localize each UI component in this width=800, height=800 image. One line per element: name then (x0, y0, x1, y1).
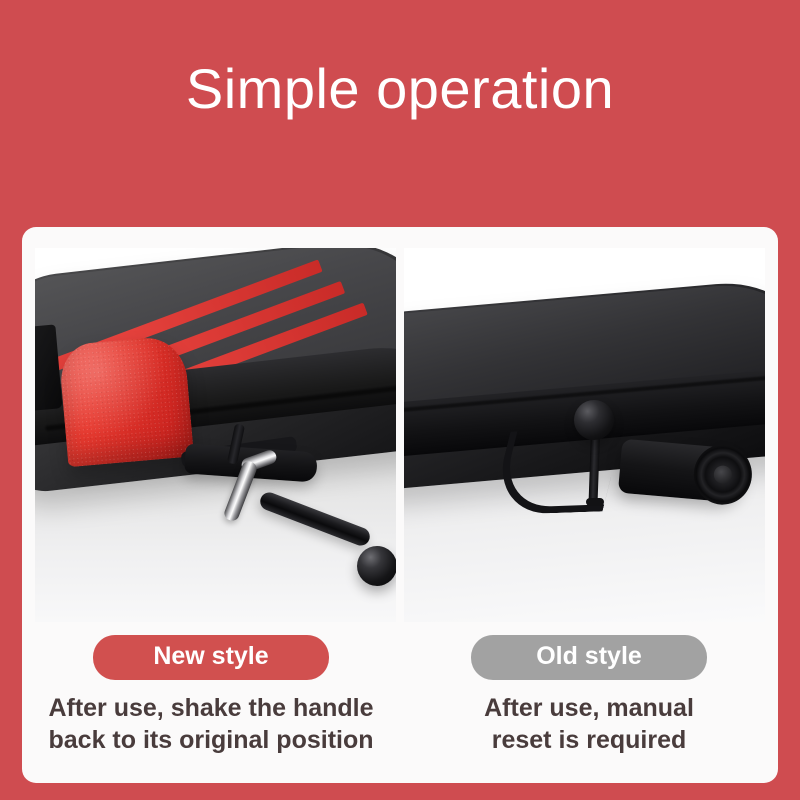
handle-ball-knob (357, 546, 396, 586)
manual-pin-foot (586, 498, 604, 506)
column-old-style: Old style After use, manual reset is req… (400, 635, 778, 756)
badge-old-style: Old style (471, 635, 707, 680)
manual-pin-knob (574, 400, 614, 440)
caption-old-style: After use, manual reset is required (400, 692, 778, 756)
photo-new-style (35, 248, 396, 622)
column-new-style: New style After use, shake the handle ba… (22, 635, 400, 756)
comparison-card: New style After use, shake the handle ba… (22, 227, 778, 783)
caption-new-style: After use, shake the handle back to its … (22, 692, 400, 756)
roller-wheel-tube (618, 439, 746, 504)
badge-new-style: New style (93, 635, 329, 680)
labels-row: New style After use, shake the handle ba… (22, 635, 778, 756)
promo-page: Simple operation (0, 0, 800, 800)
page-title: Simple operation (0, 58, 800, 120)
photo-old-style (404, 248, 765, 622)
photo-row (35, 248, 765, 622)
red-foam-roller (58, 335, 194, 468)
